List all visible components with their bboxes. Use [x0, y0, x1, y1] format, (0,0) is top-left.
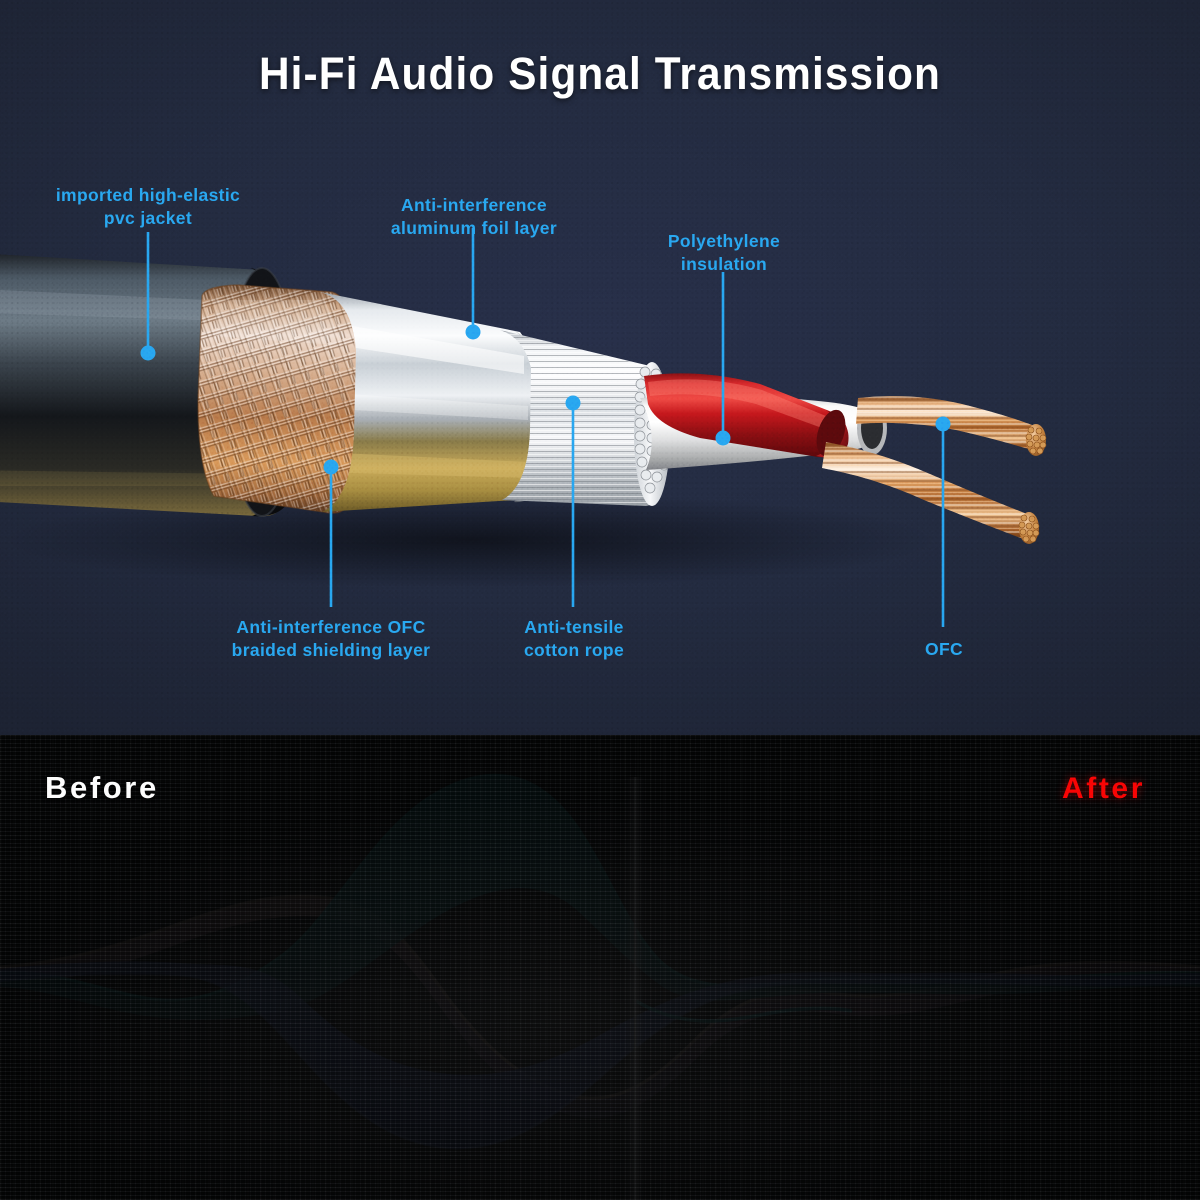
- callout-cotton-rope: Anti-tensile cotton rope: [500, 616, 648, 663]
- page-title: Hi-Fi Audio Signal Transmission: [36, 48, 1164, 100]
- before-label: Before: [45, 770, 159, 806]
- callout-pvc-jacket: imported high-elastic pvc jacket: [48, 184, 248, 231]
- callout-ofc-conductor: OFC: [898, 638, 990, 661]
- signal-comparison-panel: [0, 735, 1200, 1200]
- cable-diagram-panel: Hi-Fi Audio Signal Transmission imported…: [0, 0, 1200, 735]
- infographic-root: Hi-Fi Audio Signal Transmission imported…: [0, 0, 1200, 1200]
- callout-ofc-braid: Anti-interference OFC braided shielding …: [200, 616, 462, 663]
- callout-aluminum-foil: Anti-interference aluminum foil layer: [368, 194, 580, 241]
- callout-polyethylene: Polyethylene insulation: [648, 230, 800, 277]
- after-label: After: [1062, 772, 1145, 806]
- panel-vignette: [0, 735, 1200, 1200]
